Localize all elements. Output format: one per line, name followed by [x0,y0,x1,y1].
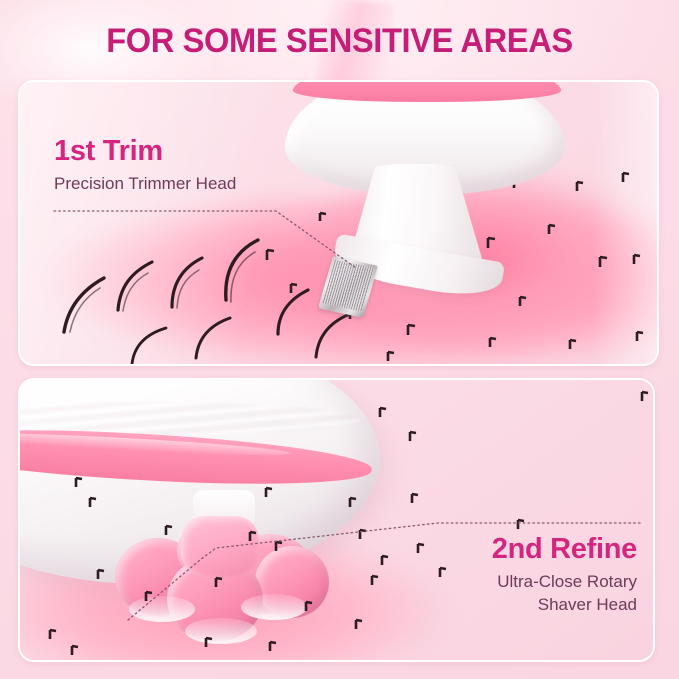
step1-description: Precision Trimmer Head [54,173,236,195]
page-title: FOR SOME SENSITIVE AREAS [14,22,666,61]
shaver-petal-rim [185,618,257,644]
trimmer-pink-band [293,80,561,102]
shaver-petal-rim [241,594,307,620]
panel1-right-highlight [593,82,657,364]
step2-title: 2nd Refine [447,534,637,564]
panel-shaver [18,378,655,662]
step2-description: Ultra-Close Rotary Shaver Head [447,571,637,616]
panel-trimmer [18,80,659,366]
step1-title: 1st Trim [54,136,236,166]
precision-trimmer-device [275,80,575,300]
label-second-step: 2nd Refine Ultra-Close Rotary Shaver Hea… [447,534,637,616]
rotary-shaver-head [115,512,330,642]
step2-description-line2: Shaver Head [538,595,637,614]
shaver-petal-rim [129,596,195,622]
shaver-head-hub [181,516,259,578]
label-first-step: 1st Trim Precision Trimmer Head [54,136,236,196]
step2-description-line1: Ultra-Close Rotary [497,572,637,591]
